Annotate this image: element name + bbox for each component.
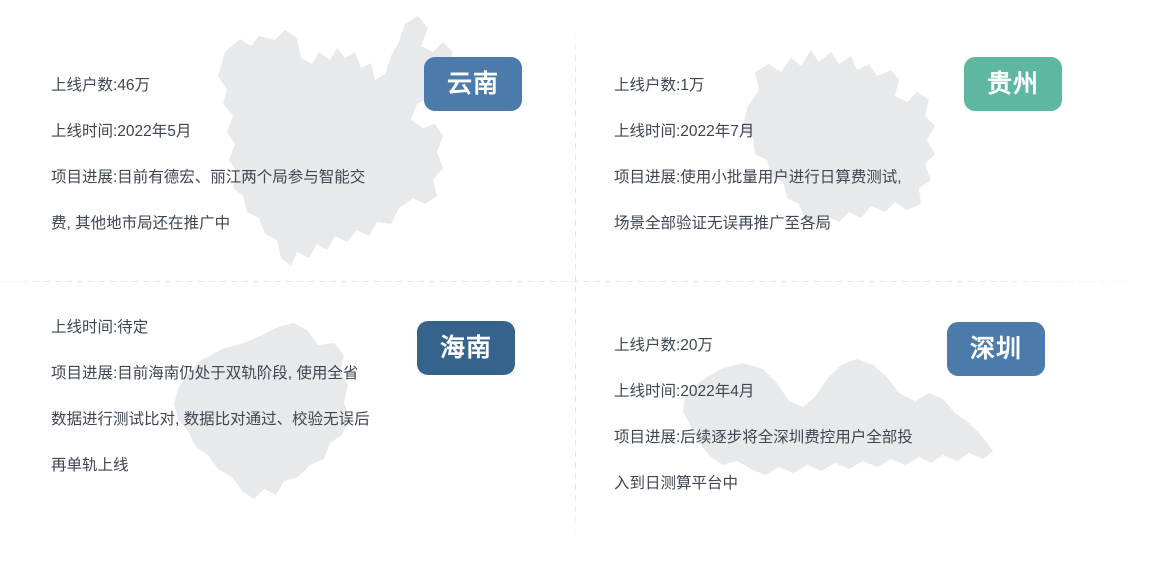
province-badge-label: 贵州 (987, 72, 1039, 97)
info-line: 上线时间:待定 (51, 305, 370, 351)
province-panel-shenzhen: 深圳 上线户数:20万 上线时间:2022年4月 项目进展:后续逐步将全深圳费控… (577, 283, 1154, 566)
panel-text-hainan: 上线时间:待定 项目进展:目前海南仍处于双轨阶段, 使用全省 数据进行测试比对,… (51, 305, 370, 489)
province-badge-yunnan[interactable]: 云南 (424, 57, 522, 111)
province-badge-label: 深圳 (970, 337, 1022, 362)
info-line: 上线时间:2022年4月 (614, 369, 913, 415)
province-status-board: 云南 上线户数:46万 上线时间:2022年5月 项目进展:目前有德宏、丽江两个… (0, 0, 1154, 566)
info-line: 上线户数:1万 (614, 63, 902, 109)
panel-text-yunnan: 上线户数:46万 上线时间:2022年5月 项目进展:目前有德宏、丽江两个局参与… (51, 63, 365, 247)
info-line: 入到日测算平台中 (614, 461, 913, 507)
info-line: 项目进展:目前海南仍处于双轨阶段, 使用全省 (51, 351, 370, 397)
info-line: 上线时间:2022年5月 (51, 109, 365, 155)
province-panel-guizhou: 贵州 上线户数:1万 上线时间:2022年7月 项目进展:使用小批量用户进行日算… (577, 0, 1154, 283)
province-panel-yunnan: 云南 上线户数:46万 上线时间:2022年5月 项目进展:目前有德宏、丽江两个… (0, 0, 577, 283)
info-line: 上线户数:20万 (614, 323, 913, 369)
info-line: 项目进展:目前有德宏、丽江两个局参与智能交 (51, 155, 365, 201)
info-line: 数据进行测试比对, 数据比对通过、校验无误后 (51, 397, 370, 443)
info-line: 上线时间:2022年7月 (614, 109, 902, 155)
panel-text-shenzhen: 上线户数:20万 上线时间:2022年4月 项目进展:后续逐步将全深圳费控用户全… (614, 323, 913, 507)
info-line: 场景全部验证无误再推广至各局 (614, 201, 902, 247)
province-badge-shenzhen[interactable]: 深圳 (947, 322, 1045, 376)
province-badge-label: 云南 (447, 72, 499, 97)
info-line: 项目进展:使用小批量用户进行日算费测试, (614, 155, 902, 201)
info-line: 再单轨上线 (51, 443, 370, 489)
province-badge-hainan[interactable]: 海南 (417, 321, 515, 375)
info-line: 上线户数:46万 (51, 63, 365, 109)
province-panel-hainan: 海南 上线时间:待定 项目进展:目前海南仍处于双轨阶段, 使用全省 数据进行测试… (0, 283, 577, 566)
info-line: 费, 其他地市局还在推广中 (51, 201, 365, 247)
info-line: 项目进展:后续逐步将全深圳费控用户全部投 (614, 415, 913, 461)
province-badge-label: 海南 (440, 336, 492, 361)
panel-text-guizhou: 上线户数:1万 上线时间:2022年7月 项目进展:使用小批量用户进行日算费测试… (614, 63, 902, 247)
province-badge-guizhou[interactable]: 贵州 (964, 57, 1062, 111)
